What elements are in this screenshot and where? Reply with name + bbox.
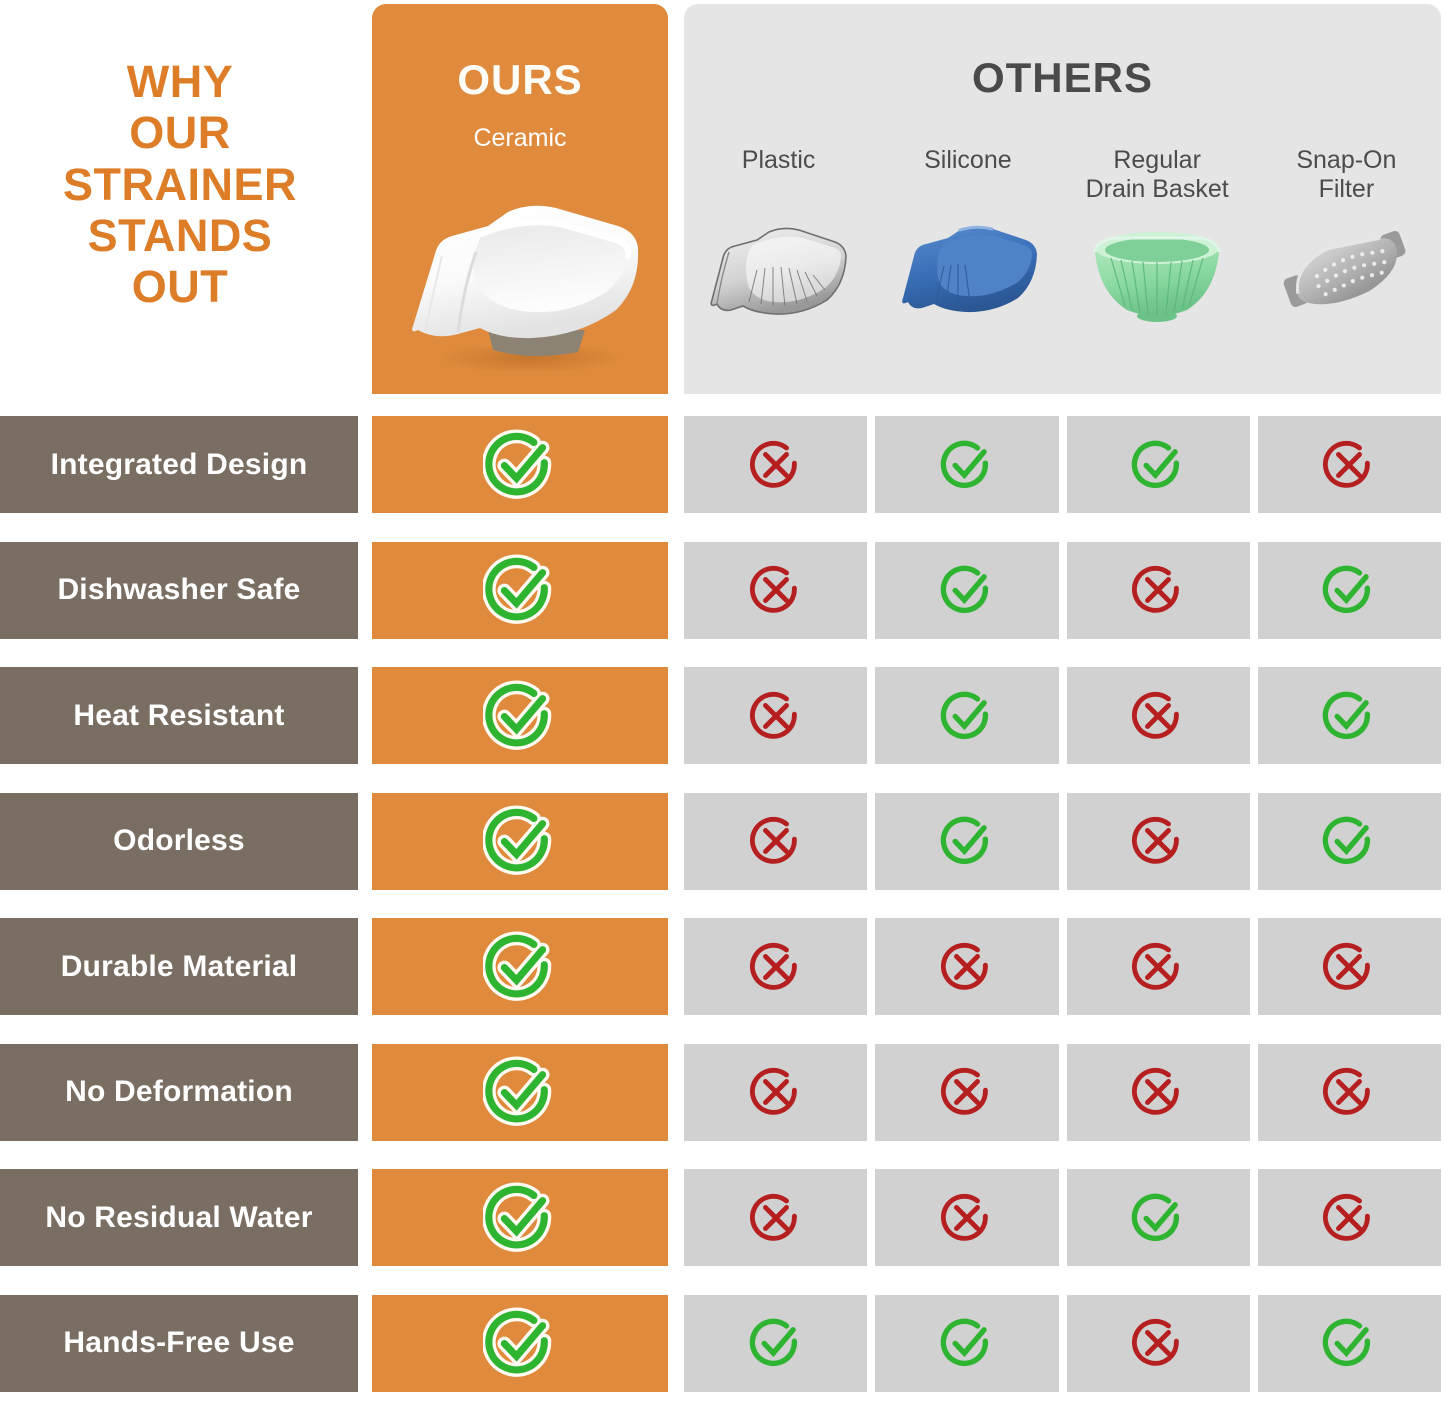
cross-circle-icon (1130, 1064, 1186, 1120)
cross-circle-icon (1321, 939, 1377, 995)
ours-cell (372, 793, 668, 890)
table-row: Durable Material (0, 904, 1445, 1030)
cross-circle-icon (1321, 1190, 1377, 1246)
cross-circle-icon (1130, 1315, 1186, 1371)
other-cell (1258, 793, 1441, 890)
others-cells (684, 793, 1441, 890)
others-columns: Plastic (684, 144, 1441, 384)
ours-heading: OURS (372, 56, 668, 104)
ours-cell (372, 542, 668, 639)
other-cell (875, 416, 1058, 513)
other-cell (875, 667, 1058, 764)
cross-circle-icon (1130, 813, 1186, 869)
cross-circle-icon (748, 562, 804, 618)
comparison-chart: WHYOURSTRAINERSTANDSOUT OURS Ceramic (0, 0, 1445, 1406)
page-title-line: STRAINER (0, 159, 360, 210)
comparison-grid: Integrated DesignDishwasher SafeHeat Res… (0, 402, 1445, 1406)
check-circle-icon (483, 1306, 557, 1380)
feature-label: Heat Resistant (0, 667, 358, 764)
table-row: No Deformation (0, 1030, 1445, 1156)
other-cell (684, 416, 867, 513)
others-cells (684, 1169, 1441, 1266)
check-circle-icon (483, 428, 557, 502)
clear-plastic-strainer-icon (699, 218, 859, 330)
other-cell (875, 918, 1058, 1015)
chart-header: WHYOURSTRAINERSTANDSOUT OURS Ceramic (0, 0, 1445, 398)
other-column-label: Plastic (742, 144, 816, 212)
others-cells (684, 667, 1441, 764)
table-row: Odorless (0, 779, 1445, 905)
other-cell (684, 793, 867, 890)
check-circle-icon (1321, 813, 1377, 869)
others-cells (684, 542, 1441, 639)
other-cell (684, 1295, 867, 1392)
other-cell (1067, 1044, 1250, 1141)
other-cell (1067, 1169, 1250, 1266)
table-row: Heat Resistant (0, 653, 1445, 779)
other-cell (684, 918, 867, 1015)
other-cell (1067, 793, 1250, 890)
check-circle-icon (1130, 437, 1186, 493)
check-circle-icon (483, 930, 557, 1004)
check-circle-icon (939, 562, 995, 618)
other-column-snap-on-filter: Snap-OnFilter (1252, 144, 1441, 384)
cross-circle-icon (939, 939, 995, 995)
others-cells (684, 1295, 1441, 1392)
page-title-line: OUT (0, 261, 360, 312)
other-cell (1258, 1044, 1441, 1141)
check-circle-icon (1130, 1190, 1186, 1246)
feature-label: No Deformation (0, 1044, 358, 1141)
ours-subheading: Ceramic (372, 124, 668, 153)
feature-label: Odorless (0, 793, 358, 890)
feature-label: Dishwasher Safe (0, 542, 358, 639)
check-circle-icon (939, 437, 995, 493)
others-cells (684, 918, 1441, 1015)
other-cell (1258, 1295, 1441, 1392)
feature-label: Integrated Design (0, 416, 358, 513)
blue-silicone-strainer-icon (888, 218, 1048, 330)
page-title-line: OUR (0, 107, 360, 158)
check-circle-icon (1321, 562, 1377, 618)
ours-column-header: OURS Ceramic (372, 4, 668, 394)
other-cell (875, 1044, 1058, 1141)
page-title: WHYOURSTRAINERSTANDSOUT (0, 56, 360, 312)
check-circle-icon (483, 679, 557, 753)
other-cell (1067, 416, 1250, 513)
other-cell (875, 793, 1058, 890)
check-circle-icon (483, 553, 557, 627)
table-row: Integrated Design (0, 402, 1445, 528)
other-cell (875, 542, 1058, 639)
ours-cell (372, 1044, 668, 1141)
other-column-label: RegularDrain Basket (1086, 144, 1229, 212)
cross-circle-icon (939, 1064, 995, 1120)
cross-circle-icon (748, 813, 804, 869)
other-column-drain-basket: RegularDrain Basket (1063, 144, 1252, 384)
ours-cell (372, 667, 668, 764)
ours-cell (372, 1169, 668, 1266)
feature-label: Hands-Free Use (0, 1295, 358, 1392)
other-column-silicone: Silicone (873, 144, 1062, 384)
check-circle-icon (483, 1181, 557, 1255)
table-row: No Residual Water (0, 1155, 1445, 1281)
check-circle-icon (483, 1055, 557, 1129)
cross-circle-icon (748, 437, 804, 493)
other-cell (1067, 1295, 1250, 1392)
others-cells (684, 416, 1441, 513)
table-row: Dishwasher Safe (0, 528, 1445, 654)
other-cell (1258, 542, 1441, 639)
ours-cell (372, 416, 668, 513)
other-cell (1258, 416, 1441, 513)
cross-circle-icon (748, 1190, 804, 1246)
cross-circle-icon (1321, 1064, 1377, 1120)
other-cell (875, 1295, 1058, 1392)
others-cells (684, 1044, 1441, 1141)
other-cell (1067, 667, 1250, 764)
cross-circle-icon (748, 939, 804, 995)
other-cell (1258, 1169, 1441, 1266)
other-column-label: Silicone (924, 144, 1012, 212)
cross-circle-icon (1321, 437, 1377, 493)
cross-circle-icon (748, 688, 804, 744)
check-circle-icon (748, 1315, 804, 1371)
page-title-line: STANDS (0, 210, 360, 261)
cross-circle-icon (1130, 562, 1186, 618)
ours-cell (372, 918, 668, 1015)
grey-snap-on-filter-icon (1266, 218, 1426, 330)
other-cell (684, 1044, 867, 1141)
other-cell (684, 1169, 867, 1266)
cross-circle-icon (1130, 688, 1186, 744)
other-cell (875, 1169, 1058, 1266)
other-column-plastic: Plastic (684, 144, 873, 384)
other-cell (1067, 918, 1250, 1015)
others-column-header: OTHERS Plastic (684, 4, 1441, 394)
ours-cell (372, 1295, 668, 1392)
check-circle-icon (939, 1315, 995, 1371)
check-circle-icon (939, 813, 995, 869)
feature-label: Durable Material (0, 918, 358, 1015)
feature-label: No Residual Water (0, 1169, 358, 1266)
other-cell (1067, 542, 1250, 639)
cross-circle-icon (748, 1064, 804, 1120)
page-title-line: WHY (0, 56, 360, 107)
table-row: Hands-Free Use (0, 1281, 1445, 1406)
green-drain-basket-icon (1077, 218, 1237, 330)
other-column-label: Snap-OnFilter (1296, 144, 1396, 212)
check-circle-icon (1321, 1315, 1377, 1371)
ceramic-strainer-bowl-icon (380, 182, 660, 382)
other-cell (684, 667, 867, 764)
other-cell (684, 542, 867, 639)
other-cell (1258, 667, 1441, 764)
cross-circle-icon (939, 1190, 995, 1246)
others-heading: OTHERS (684, 54, 1441, 102)
check-circle-icon (939, 688, 995, 744)
check-circle-icon (1321, 688, 1377, 744)
check-circle-icon (483, 804, 557, 878)
other-cell (1258, 918, 1441, 1015)
cross-circle-icon (1130, 939, 1186, 995)
